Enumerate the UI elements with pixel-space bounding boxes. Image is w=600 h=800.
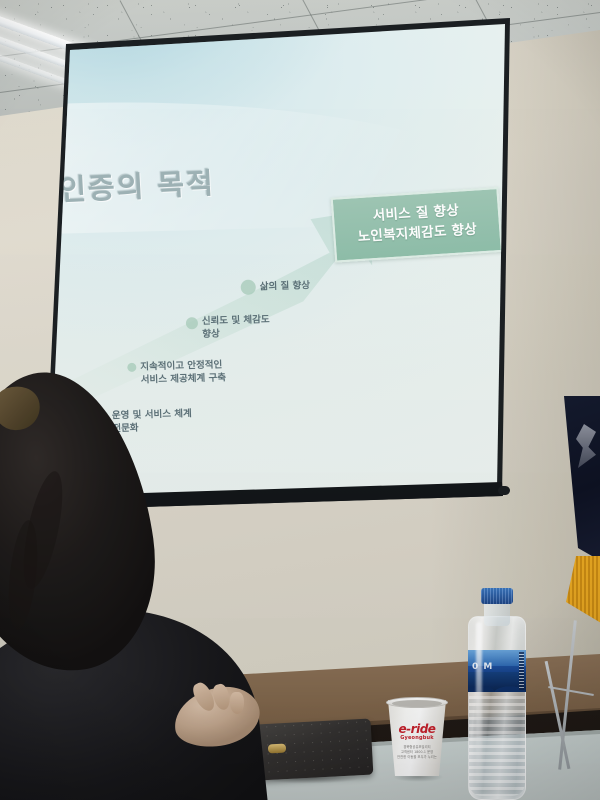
slide-callout-box: 서비스 질 향상 노인복지체감도 향상	[331, 187, 503, 262]
bag-clasp-icon	[268, 744, 286, 754]
cup-fine-print-line-3: 안전한 이동을 모두가 누리는	[390, 755, 444, 760]
bottle-cap	[481, 588, 513, 604]
bottle-highlight	[476, 622, 482, 782]
cup-sub-brand: Gyeongbuk	[392, 735, 442, 741]
bullet-icon	[127, 363, 136, 372]
cup-brand-logo: e-ride	[392, 723, 442, 735]
bullet-icon	[241, 280, 256, 295]
water-bottle: 0 M	[466, 588, 528, 800]
projection-screen-knob	[498, 486, 510, 495]
slide-step-3-label: 신뢰도 및 체감도 향상	[202, 314, 271, 341]
photo-scene: 인증의 목적 서비스 질 향상 노인복지체감도 향상	[0, 0, 600, 800]
slide-step-1-label: 운영 및 서비스 체계 전문화	[112, 408, 193, 436]
slide-step-3: 신뢰도 및 체감도 향상	[186, 314, 271, 342]
cup-fine-print: 경북형공유모빌리티 고객센터 1800-1 운영 안전한 이동을 모두가 누리는	[390, 745, 444, 759]
slide-step-4-label: 삶의 질 향상	[260, 280, 311, 294]
bullet-icon	[186, 317, 198, 329]
paper-cup-inner	[392, 700, 442, 707]
slide-step-4: 삶의 질 향상	[240, 277, 310, 295]
bottle-label-barcode	[519, 652, 524, 690]
slide-step-2-label: 지속적이고 안정적인 서비스 제공체계 구축	[140, 359, 226, 387]
slide-step-2: 지속적이고 안정적인 서비스 제공체계 구축	[127, 359, 226, 387]
